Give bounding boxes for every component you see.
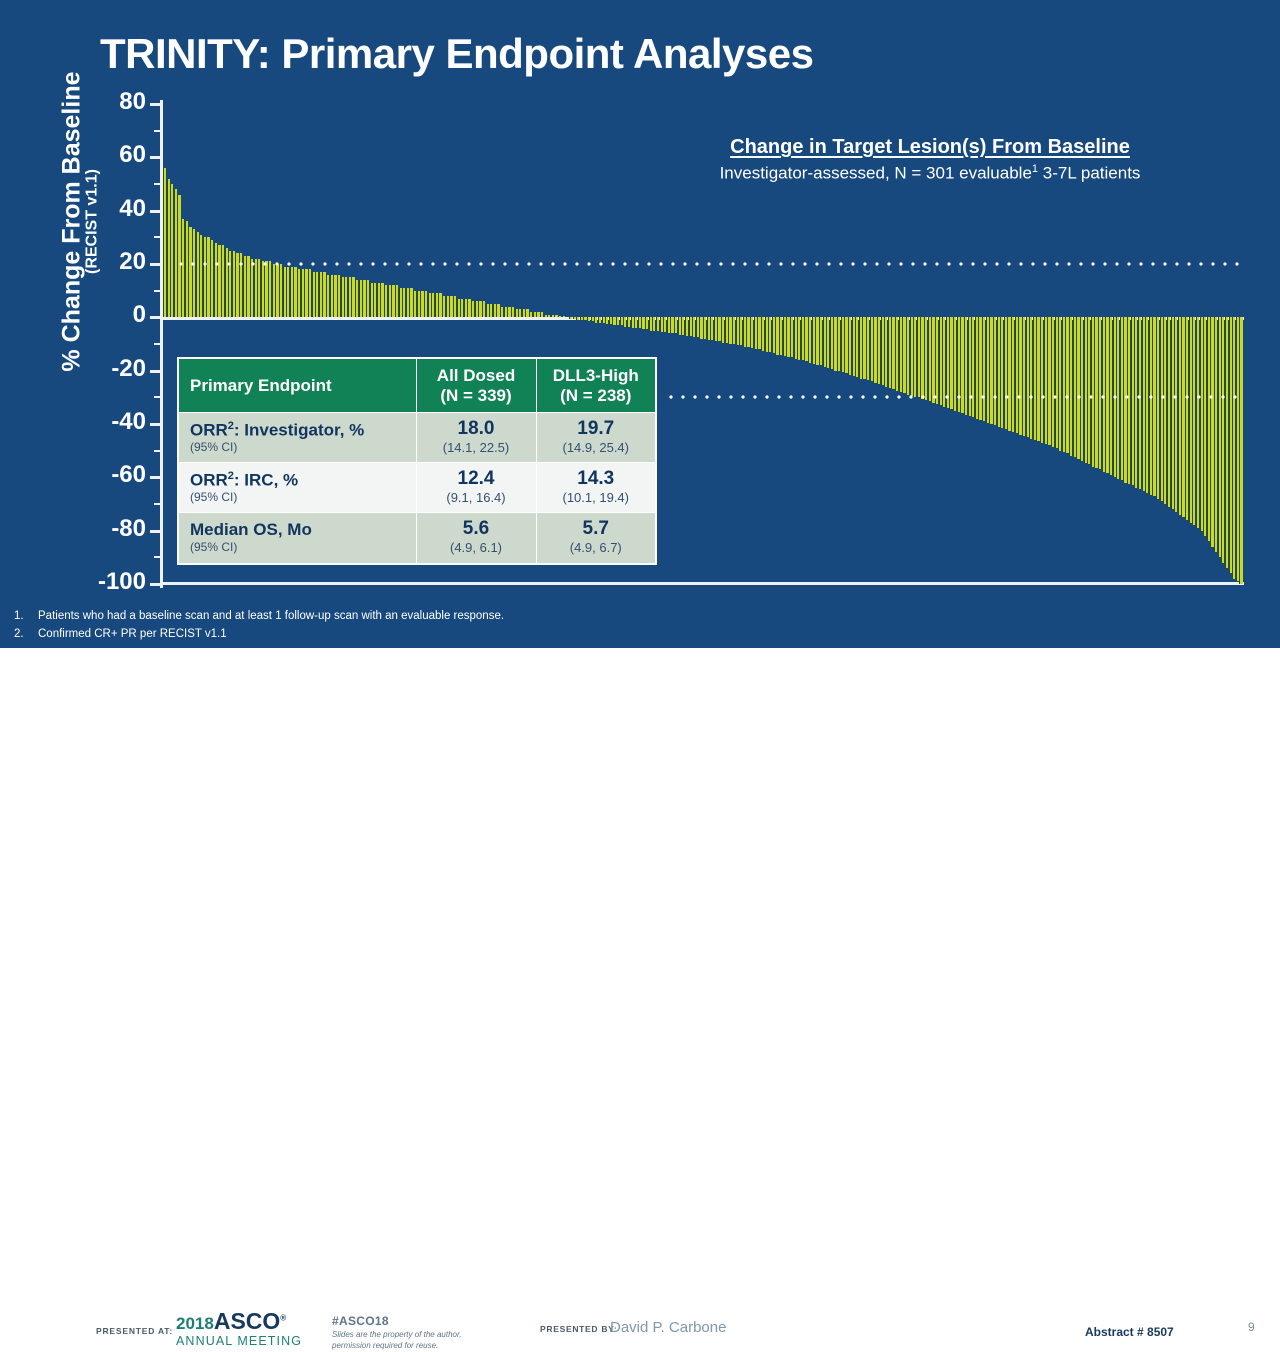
y-tick-minor (154, 396, 161, 398)
y-tick-label: -60 (56, 461, 146, 489)
page-number: 9 (1248, 1320, 1255, 1334)
waterfall-bar (562, 316, 565, 317)
endpoint-label-superscript: 2 (228, 470, 234, 482)
y-tick-major (150, 210, 161, 213)
reference-line-20 (175, 262, 1240, 266)
endpoint-label-superscript: 2 (228, 420, 234, 432)
y-tick-major (150, 476, 161, 479)
y-tick-minor (154, 556, 161, 558)
table-cell-all-dosed: 5.6(4.9, 6.1) (416, 513, 536, 564)
y-tick-label: -100 (56, 568, 146, 596)
col-header-all-dosed-line1: All Dosed (437, 366, 515, 385)
table-row: Median OS, Mo(95% CI)5.6(4.9, 6.1)5.7(4.… (178, 513, 656, 564)
y-tick-label: -40 (56, 408, 146, 436)
y-axis-title: % Change From Baseline (RECIST v1.1) (58, 0, 101, 452)
footnote-text: Confirmed CR+ PR per RECIST v1.1 (38, 628, 227, 640)
y-tick-minor (154, 236, 161, 238)
table-cell-dll3-high: 14.3(10.1, 19.4) (536, 463, 656, 513)
footnotes: 1.Patients who had a baseline scan and a… (12, 608, 504, 644)
y-tick-label: 20 (56, 248, 146, 276)
y-tick-label: 80 (56, 88, 146, 116)
rights-notice-line1: Slides are the property of the author, (332, 1330, 461, 1339)
value-main: 5.7 (543, 519, 650, 540)
y-tick-major (150, 156, 161, 159)
asco-logo-name: ASCO (214, 1308, 280, 1334)
asco-logo-registered: ® (280, 1313, 286, 1322)
table-header-row: Primary Endpoint All Dosed (N = 339) DLL… (178, 358, 656, 413)
presented-by-label: PRESENTED BY: (540, 1324, 617, 1334)
y-tick-major (150, 370, 161, 373)
y-tick-minor (154, 503, 161, 505)
value-main: 5.6 (423, 519, 530, 540)
col-header-all-dosed-line2: (N = 339) (440, 386, 511, 405)
value-main: 12.4 (423, 469, 530, 490)
col-header-dll3-line1: DLL3-High (553, 366, 639, 385)
value-ci: (4.9, 6.1) (423, 541, 530, 555)
y-tick-minor (154, 290, 161, 292)
table-cell-endpoint: ORR2: IRC, %(95% CI) (178, 463, 416, 513)
footnote-number: 2. (12, 626, 38, 644)
endpoint-label: ORR2: Investigator, % (190, 420, 405, 440)
value-main: 18.0 (423, 419, 530, 440)
value-ci: (4.9, 6.7) (543, 541, 650, 555)
y-tick-major (150, 423, 161, 426)
conference-hashtag-block: #ASCO18 Slides are the property of the a… (332, 1314, 461, 1352)
conference-hashtag: #ASCO18 (332, 1314, 461, 1328)
value-ci: (10.1, 19.4) (543, 491, 650, 505)
footnote: 1.Patients who had a baseline scan and a… (12, 608, 504, 626)
table-cell-all-dosed: 12.4(9.1, 16.4) (416, 463, 536, 513)
rights-notice: Slides are the property of the author, p… (332, 1330, 461, 1352)
presented-at-label: PRESENTED AT: (96, 1326, 173, 1336)
value-main: 14.3 (543, 469, 650, 490)
value-ci: (14.9, 25.4) (543, 441, 650, 455)
y-tick-minor (154, 183, 161, 185)
col-header-endpoint: Primary Endpoint (178, 358, 416, 413)
y-tick-label: 60 (56, 141, 146, 169)
y-tick-minor (154, 450, 161, 452)
y-tick-minor (154, 343, 161, 345)
y-axis-title-sub: (RECIST v1.1) (85, 0, 102, 452)
table-cell-dll3-high: 19.7(14.9, 25.4) (536, 413, 656, 463)
slide-footer: PRESENTED AT: 2018ASCO® ANNUAL MEETING #… (0, 648, 1280, 720)
table-cell-endpoint: ORR2: Investigator, %(95% CI) (178, 413, 416, 463)
y-tick-minor (154, 130, 161, 132)
table-row: ORR2: Investigator, %(95% CI)18.0(14.1, … (178, 413, 656, 463)
asco-logo-top: 2018ASCO® (176, 1310, 302, 1333)
asco-logo-year: 2018 (176, 1314, 214, 1333)
reference-line--30 (665, 395, 1240, 399)
asco-logo-subtitle: ANNUAL MEETING (176, 1335, 302, 1348)
y-tick-major (150, 103, 161, 106)
rights-notice-line2: permission required for reuse. (332, 1341, 438, 1350)
table-body: ORR2: Investigator, %(95% CI)18.0(14.1, … (178, 413, 656, 564)
y-tick-label: -80 (56, 515, 146, 543)
primary-endpoint-table: Primary Endpoint All Dosed (N = 339) DLL… (177, 357, 657, 565)
abstract-number: Abstract # 8507 (1085, 1325, 1174, 1339)
value-ci: (14.1, 22.5) (423, 441, 530, 455)
y-tick-major (150, 583, 161, 586)
asco-logo: 2018ASCO® ANNUAL MEETING (176, 1310, 302, 1348)
y-tick-label: 0 (56, 301, 146, 329)
col-header-dll3-line2: (N = 238) (560, 386, 631, 405)
waterfall-bar (1239, 317, 1242, 584)
col-header-dll3-high: DLL3-High (N = 238) (536, 358, 656, 413)
slide-canvas: TRINITY: Primary Endpoint Analyses Chang… (0, 0, 1280, 720)
endpoint-label: Median OS, Mo (190, 521, 405, 540)
y-tick-label: -20 (56, 355, 146, 383)
y-tick-major (150, 530, 161, 533)
y-tick-major (150, 263, 161, 266)
footnote: 2.Confirmed CR+ PR per RECIST v1.1 (12, 626, 504, 644)
table-header: Primary Endpoint All Dosed (N = 339) DLL… (178, 358, 656, 413)
table-cell-all-dosed: 18.0(14.1, 22.5) (416, 413, 536, 463)
y-tick-major (150, 316, 161, 319)
col-header-all-dosed: All Dosed (N = 339) (416, 358, 536, 413)
value-main: 19.7 (543, 419, 650, 440)
footnote-text: Patients who had a baseline scan and at … (38, 610, 504, 622)
table-cell-endpoint: Median OS, Mo(95% CI) (178, 513, 416, 564)
y-tick-label: 40 (56, 195, 146, 223)
page-title: TRINITY: Primary Endpoint Analyses (100, 30, 813, 78)
endpoint-label: ORR2: IRC, % (190, 470, 405, 490)
table-row: ORR2: IRC, %(95% CI)12.4(9.1, 16.4)14.3(… (178, 463, 656, 513)
table-cell-dll3-high: 5.7(4.9, 6.7) (536, 513, 656, 564)
footnote-number: 1. (12, 608, 38, 626)
endpoint-ci-label: (95% CI) (190, 441, 405, 454)
endpoint-ci-label: (95% CI) (190, 541, 405, 554)
presenter-name: David P. Carbone (610, 1319, 726, 1336)
value-ci: (9.1, 16.4) (423, 491, 530, 505)
endpoint-ci-label: (95% CI) (190, 491, 405, 504)
